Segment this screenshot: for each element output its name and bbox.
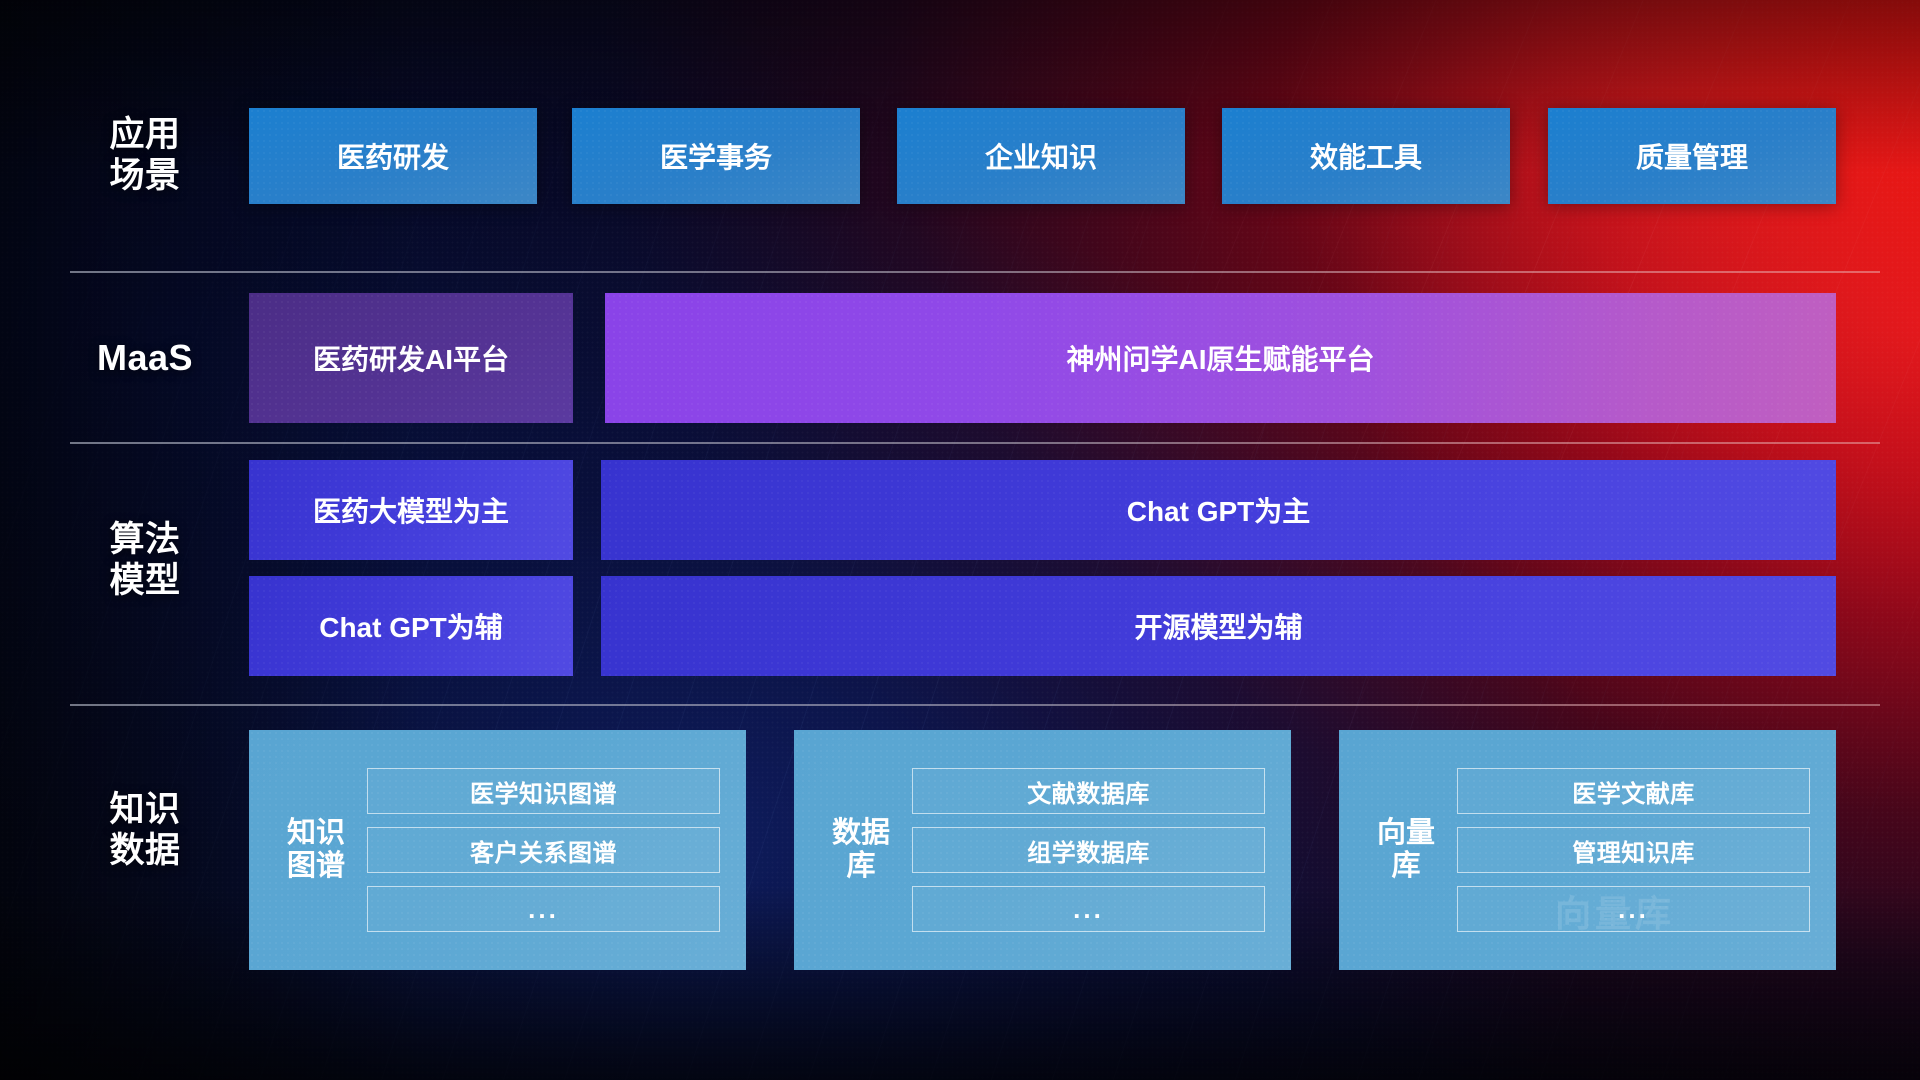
knowledge-item-more-vector-label: ...: [1618, 894, 1649, 925]
app-box-quality-management[interactable]: 质量管理: [1548, 108, 1836, 204]
slide-canvas: 应用 场景 医药研发 医学事务 企业知识 效能工具 质量管理 MaaS 医药研发…: [0, 0, 1920, 1080]
knowledge-item-omics-database[interactable]: 组学数据库: [912, 827, 1265, 873]
app-box-drug-rd-label: 医药研发: [337, 136, 449, 176]
knowledge-item-medical-knowledge-graph-label: 医学知识图谱: [470, 774, 617, 809]
row-label-algorithm: 算法 模型: [70, 520, 220, 601]
divider-application-maas: [70, 271, 1880, 273]
knowledge-item-management-knowledge-store-label: 管理知识库: [1572, 833, 1695, 868]
knowledge-panel-vector-store-vertical-label: 向量库: [1375, 817, 1437, 883]
algorithm-box-chatgpt-primary[interactable]: Chat GPT为主: [601, 460, 1836, 560]
algorithm-box-opensource-secondary-label: 开源模型为辅: [1134, 606, 1302, 646]
algorithm-box-chatgpt-secondary-label: Chat GPT为辅: [319, 606, 503, 646]
knowledge-item-literature-database-label: 文献数据库: [1027, 774, 1150, 809]
app-box-enterprise-knowledge-label: 企业知识: [985, 136, 1097, 176]
knowledge-panel-database-items: 文献数据库 组学数据库 ...: [912, 768, 1265, 932]
diagram-content: 应用 场景 医药研发 医学事务 企业知识 效能工具 质量管理 MaaS 医药研发…: [0, 0, 1920, 1080]
knowledge-item-medical-literature-store[interactable]: 医学文献库: [1457, 768, 1810, 814]
app-box-medical-affairs-label: 医学事务: [660, 136, 772, 176]
maas-box-shenzhou-wenxue-platform-label: 神州问学AI原生赋能平台: [1066, 338, 1374, 378]
knowledge-panel-knowledge-graph[interactable]: 知识图谱 医学知识图谱 客户关系图谱 ...: [249, 730, 746, 970]
app-box-medical-affairs[interactable]: 医学事务: [572, 108, 860, 204]
app-box-drug-rd[interactable]: 医药研发: [249, 108, 537, 204]
app-box-enterprise-knowledge[interactable]: 企业知识: [897, 108, 1185, 204]
row-label-application: 应用 场景: [70, 115, 220, 196]
knowledge-item-omics-database-label: 组学数据库: [1027, 833, 1150, 868]
row-label-knowledge: 知识 数据: [70, 790, 220, 871]
row-label-maas: MaaS: [70, 337, 220, 379]
knowledge-item-medical-knowledge-graph[interactable]: 医学知识图谱: [367, 768, 720, 814]
knowledge-item-customer-relation-graph-label: 客户关系图谱: [470, 833, 617, 868]
knowledge-panel-knowledge-graph-vertical-label: 知识图谱: [285, 817, 347, 883]
knowledge-item-more-vector[interactable]: ...: [1457, 886, 1810, 932]
app-box-efficiency-tools-label: 效能工具: [1310, 136, 1422, 176]
knowledge-panel-vector-store[interactable]: 向量库 医学文献库 管理知识库 ...: [1339, 730, 1836, 970]
app-box-quality-management-label: 质量管理: [1636, 136, 1748, 176]
knowledge-item-literature-database[interactable]: 文献数据库: [912, 768, 1265, 814]
knowledge-item-medical-literature-store-label: 医学文献库: [1572, 774, 1695, 809]
divider-algorithm-knowledge: [70, 704, 1880, 706]
app-box-efficiency-tools[interactable]: 效能工具: [1222, 108, 1510, 204]
maas-box-drug-rd-ai-platform[interactable]: 医药研发AI平台: [249, 293, 573, 423]
knowledge-item-more-graph-label: ...: [528, 894, 559, 925]
knowledge-item-customer-relation-graph[interactable]: 客户关系图谱: [367, 827, 720, 873]
knowledge-item-more-database-label: ...: [1073, 894, 1104, 925]
knowledge-item-more-database[interactable]: ...: [912, 886, 1265, 932]
knowledge-panel-vector-store-items: 医学文献库 管理知识库 ...: [1457, 768, 1810, 932]
algorithm-box-pharma-llm-primary-label: 医药大模型为主: [313, 490, 509, 530]
knowledge-item-more-graph[interactable]: ...: [367, 886, 720, 932]
maas-box-shenzhou-wenxue-platform[interactable]: 神州问学AI原生赋能平台: [605, 293, 1836, 423]
maas-box-drug-rd-ai-platform-label: 医药研发AI平台: [313, 338, 509, 378]
knowledge-panel-knowledge-graph-items: 医学知识图谱 客户关系图谱 ...: [367, 768, 720, 932]
divider-maas-algorithm: [70, 442, 1880, 444]
algorithm-box-chatgpt-primary-label: Chat GPT为主: [1127, 490, 1311, 530]
algorithm-box-opensource-secondary[interactable]: 开源模型为辅: [601, 576, 1836, 676]
knowledge-panel-database[interactable]: 数据库 文献数据库 组学数据库 ...: [794, 730, 1291, 970]
algorithm-box-pharma-llm-primary[interactable]: 医药大模型为主: [249, 460, 573, 560]
knowledge-item-management-knowledge-store[interactable]: 管理知识库: [1457, 827, 1810, 873]
knowledge-panel-database-vertical-label: 数据库: [830, 817, 892, 883]
algorithm-box-chatgpt-secondary[interactable]: Chat GPT为辅: [249, 576, 573, 676]
